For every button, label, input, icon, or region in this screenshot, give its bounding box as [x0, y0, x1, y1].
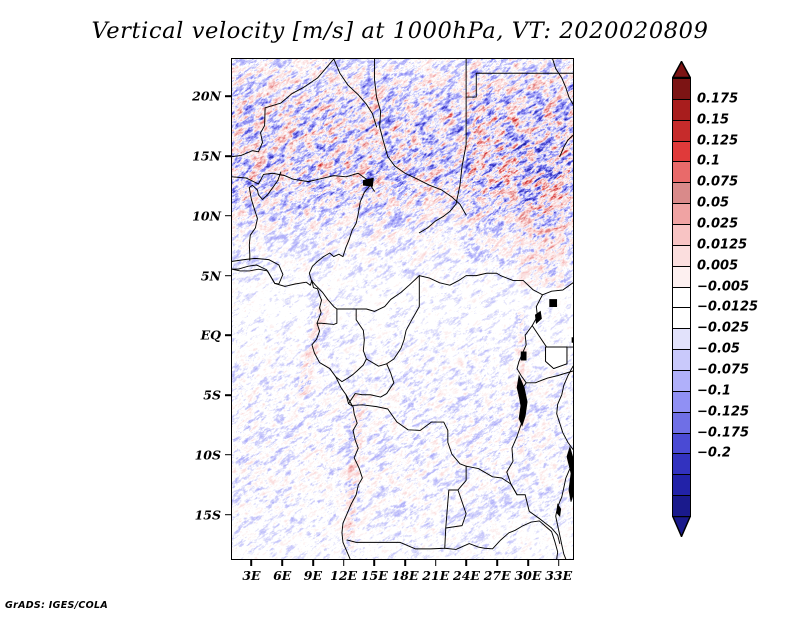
colorbar-segment	[672, 182, 691, 204]
colorbar-tick-label: 0.125	[697, 133, 738, 148]
colorbar-tick-label: 0.005	[697, 258, 738, 273]
colorbar-segment	[672, 370, 691, 392]
longitude-tick-label: 33E	[536, 568, 582, 583]
colorbar-segment	[672, 433, 691, 455]
colorbar-segment	[672, 391, 691, 413]
latitude-tick-mark	[225, 454, 231, 456]
longitude-tick-mark	[527, 560, 529, 566]
map-boundary-line	[553, 59, 573, 104]
footer-credit: GrADS: IGES/COLA	[5, 600, 108, 611]
colorbar-segment	[672, 245, 691, 267]
longitude-tick-mark	[558, 560, 560, 566]
colorbar-tick-label: −0.1	[697, 383, 731, 398]
longitude-tick-mark	[404, 560, 406, 566]
map-waterbody	[521, 352, 526, 360]
colorbar-tick-label: 0.1	[697, 154, 720, 169]
longitude-tick-mark	[281, 560, 283, 566]
longitude-tick-mark	[435, 560, 437, 566]
colorbar-segment	[672, 453, 691, 475]
map-waterbody	[535, 311, 541, 323]
map-boundary-line	[334, 59, 377, 127]
colorbar-segment	[672, 412, 691, 434]
colorbar-tick-label: −0.175	[697, 425, 749, 440]
longitude-tick-mark	[312, 560, 314, 566]
map-boundary-line	[501, 276, 543, 295]
colorbar-tick-label: 0.15	[697, 112, 729, 127]
map-boundary-line	[232, 59, 334, 157]
map-boundary-line	[466, 59, 573, 97]
map-boundary-line	[249, 172, 281, 199]
latitude-tick-mark	[225, 155, 231, 157]
map-waterbody	[550, 299, 557, 306]
map-boundary-line	[366, 276, 419, 367]
latitude-tick-mark	[225, 275, 231, 277]
colorbar	[672, 78, 691, 516]
colorbar-tick-label: −0.05	[697, 342, 740, 357]
map-boundary-line	[249, 188, 257, 261]
colorbar-arrow-max	[672, 61, 691, 78]
colorbar-segment	[672, 224, 691, 246]
map-waterbody	[363, 178, 373, 186]
latitude-tick-mark	[225, 334, 231, 336]
latitude-tick-label: 5N	[161, 268, 221, 283]
map-boundary-line	[311, 273, 500, 311]
colorbar-tick-label: −0.0125	[697, 300, 758, 315]
map-boundary-line	[232, 269, 362, 559]
page-title: Vertical velocity [m/s] at 1000hPa, VT: …	[0, 18, 800, 44]
colorbar-arrow-min	[672, 516, 691, 537]
colorbar-segment	[672, 474, 691, 496]
map-boundary-line	[336, 309, 367, 382]
colorbar-segment	[672, 266, 691, 288]
colorbar-tick-label: −0.005	[697, 279, 749, 294]
latitude-tick-label: 5S	[161, 388, 221, 403]
map-waterbody	[557, 504, 561, 516]
longitude-tick-mark	[466, 560, 468, 566]
colorbar-tick-label: 0.05	[697, 196, 729, 211]
colorbar-segment	[672, 495, 691, 517]
colorbar-tick-label: 0.0125	[697, 237, 747, 252]
colorbar-tick-label: −0.025	[697, 321, 749, 336]
latitude-tick-mark	[225, 215, 231, 217]
longitude-tick-mark	[251, 560, 253, 566]
map-geography-overlay	[232, 59, 573, 559]
map-boundary-line	[557, 366, 573, 449]
colorbar-tick-label: 0.025	[697, 217, 738, 232]
colorbar-segment	[672, 287, 691, 309]
map-waterbody	[572, 338, 573, 343]
colorbar-segment	[672, 349, 691, 371]
latitude-tick-mark	[225, 394, 231, 396]
longitude-tick-mark	[343, 560, 345, 566]
map-boundary-line	[349, 364, 394, 404]
latitude-tick-label: 15N	[161, 149, 221, 164]
latitude-tick-label: 20N	[161, 89, 221, 104]
colorbar-tick-label: −0.125	[697, 404, 749, 419]
latitude-tick-mark	[225, 514, 231, 516]
colorbar-tick-label: 0.075	[697, 175, 738, 190]
map-boundary-line	[374, 59, 466, 215]
colorbar-segment	[672, 307, 691, 329]
latitude-tick-label: 15S	[161, 507, 221, 522]
latitude-tick-label: 10N	[161, 208, 221, 223]
map-boundary-line	[419, 97, 466, 233]
map-boundary-line	[445, 521, 558, 559]
map-boundary-line	[532, 326, 567, 347]
colorbar-segment	[672, 99, 691, 121]
latitude-tick-label: 10S	[161, 447, 221, 462]
colorbar-tick-label: 0.175	[697, 91, 738, 106]
map-plot-area	[231, 58, 574, 560]
longitude-tick-mark	[496, 560, 498, 566]
colorbar-segment	[672, 141, 691, 163]
longitude-tick-mark	[374, 560, 376, 566]
map-boundary-line	[346, 395, 466, 549]
map-boundary-line	[232, 173, 374, 191]
map-boundary-line	[466, 466, 560, 543]
colorbar-segment	[672, 328, 691, 350]
colorbar-segment	[672, 120, 691, 142]
colorbar-segment	[672, 78, 691, 100]
map-boundary-line	[309, 185, 370, 280]
latitude-tick-mark	[225, 95, 231, 97]
colorbar-segment	[672, 161, 691, 183]
colorbar-tick-label: −0.2	[697, 446, 731, 461]
colorbar-segment	[672, 203, 691, 225]
map-boundary-line	[560, 135, 573, 156]
colorbar-tick-label: −0.075	[697, 363, 749, 378]
latitude-tick-label: EQ	[161, 328, 221, 343]
